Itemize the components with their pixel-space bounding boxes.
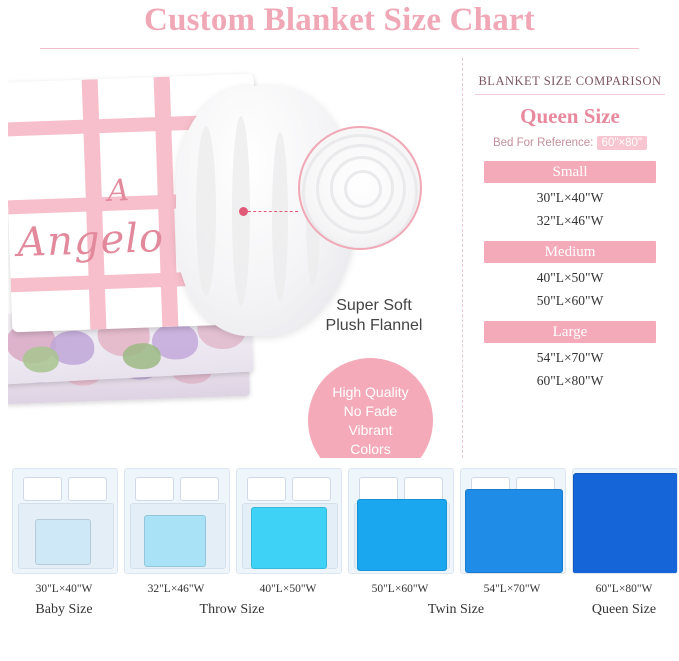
size-large-2: 60"L×80"W (470, 373, 670, 389)
pillow-right-icon (404, 477, 443, 501)
bed-size-6: 60"L×80"W (572, 583, 676, 595)
quality-line-1: High Quality (332, 383, 408, 402)
bed-reference: Bed For Reference: 60"×80" (470, 137, 670, 149)
pillow-right-icon (180, 477, 219, 501)
quality-line-2: No Fade (332, 402, 408, 421)
bed-size-5: 54"L×70"W (460, 583, 564, 595)
size-band-small: Small (484, 161, 656, 183)
page-title: Custom Blanket Size Chart (0, 2, 679, 39)
bed-group-throw: Throw Size (124, 602, 340, 618)
bed-group-queen: Queen Size (572, 602, 676, 618)
product-photo: A Angelo Super Soft Plush Flannel High Q… (8, 58, 458, 458)
blanket-overlay-5 (465, 489, 563, 573)
bed-illustration-5 (460, 468, 566, 574)
panel-divider (462, 58, 463, 458)
blanket-name-top: A (107, 173, 130, 209)
size-band-medium: Medium (484, 241, 656, 263)
bed-size-3: 40"L×50"W (236, 583, 340, 595)
pillow-left-icon (359, 477, 398, 501)
bed-size-2: 32"L×46"W (124, 583, 228, 595)
quality-line-3: Vibrant (332, 421, 408, 440)
pillow-left-icon (23, 477, 62, 501)
pillow-right-icon (68, 477, 107, 501)
blanket-overlay-6 (573, 473, 678, 574)
bed-illustration-4 (348, 468, 454, 574)
blanket-overlay-4 (357, 499, 447, 571)
size-comparison-panel: BLANKET SIZE COMPARISON Queen Size Bed F… (470, 62, 670, 389)
bed-card-6: 60"L×80"W (572, 468, 676, 595)
title-divider (40, 48, 639, 49)
blanket-overlay-3 (251, 507, 327, 569)
comparison-heading-rule (475, 94, 665, 95)
bed-card-2: 32"L×46"W (124, 468, 228, 595)
plush-flannel-label: Super Soft Plush Flannel (304, 296, 444, 336)
size-medium-1: 40"L×50"W (470, 270, 670, 286)
bed-card-1: 30"L×40"W (12, 468, 116, 595)
pillow-left-icon (247, 477, 286, 501)
blanket-overlay-2 (144, 515, 206, 567)
zoom-marker-dot (239, 207, 248, 216)
plush-label-line-1: Super Soft (304, 296, 444, 316)
pillow-right-icon (292, 477, 331, 501)
bed-size-1: 30"L×40"W (12, 583, 116, 595)
quality-badge: High Quality No Fade Vibrant Colors (308, 358, 433, 458)
bed-card-4: 50"L×60"W (348, 468, 452, 595)
bed-group-twin: Twin Size (348, 602, 564, 618)
size-band-large: Large (484, 321, 656, 343)
plush-texture-zoom (298, 126, 422, 250)
size-medium-2: 50"L×60"W (470, 293, 670, 309)
size-large-1: 54"L×70"W (470, 350, 670, 366)
featured-size-label: Queen Size (470, 104, 670, 129)
comparison-heading: BLANKET SIZE COMPARISON (470, 74, 670, 89)
size-small-2: 32"L×46"W (470, 213, 670, 229)
bed-card-5: 54"L×70"W (460, 468, 564, 595)
size-small-1: 30"L×40"W (470, 190, 670, 206)
bed-comparison-row: 30"L×40"W 32"L×46"W 40"L×50"W 50"L×60"W (0, 468, 679, 658)
bed-reference-value: 60"×80" (597, 136, 647, 150)
bed-reference-label: Bed For Reference: (493, 137, 593, 149)
bed-illustration-6 (572, 468, 678, 574)
bed-group-baby: Baby Size (12, 602, 116, 618)
pillow-left-icon (135, 477, 174, 501)
plush-label-line-2: Plush Flannel (304, 316, 444, 336)
bed-illustration-1 (12, 468, 118, 574)
bed-illustration-2 (124, 468, 230, 574)
bed-size-4: 50"L×60"W (348, 583, 452, 595)
blanket-overlay-1 (35, 519, 91, 565)
blanket-name-script: Angelo (17, 215, 165, 266)
zoom-callout-line (248, 211, 298, 212)
bed-card-3: 40"L×50"W (236, 468, 340, 595)
bed-illustration-3 (236, 468, 342, 574)
quality-line-4: Colors (332, 440, 408, 459)
